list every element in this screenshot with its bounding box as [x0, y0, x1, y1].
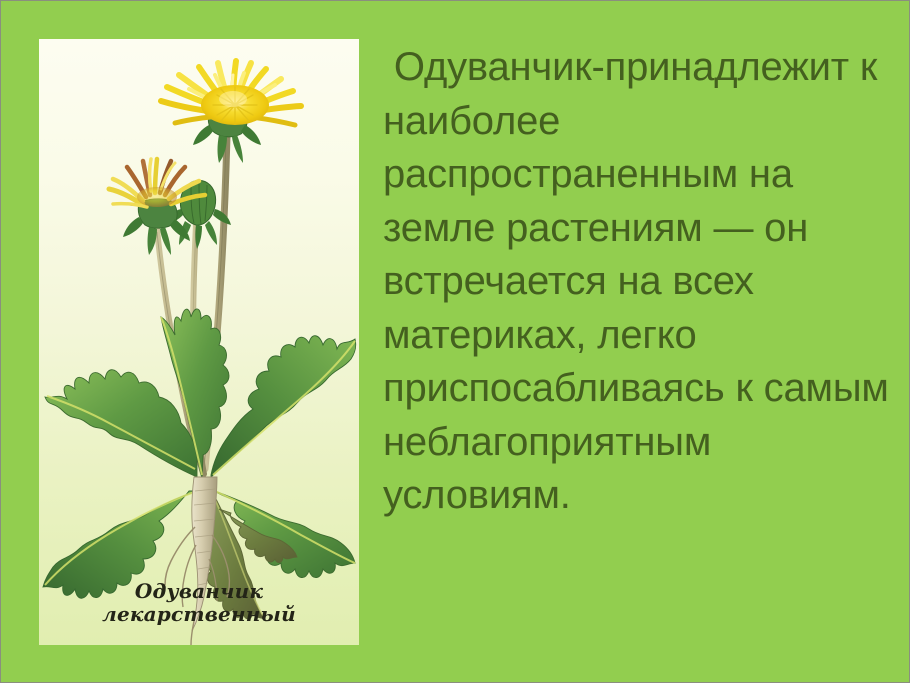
slide-body-text: Одуванчик-принадлежит к наиболее распрос… [383, 41, 895, 523]
illustration-panel: Одуванчик лекарственный [39, 39, 359, 645]
leaf [211, 336, 356, 477]
plant-caption: Одуванчик лекарственный [39, 580, 359, 627]
presentation-slide: Одуванчик лекарственный Одуванчик-принад… [0, 0, 910, 683]
leaf [45, 370, 197, 477]
dandelion-illustration [39, 39, 359, 645]
open-flower-head [161, 61, 301, 163]
